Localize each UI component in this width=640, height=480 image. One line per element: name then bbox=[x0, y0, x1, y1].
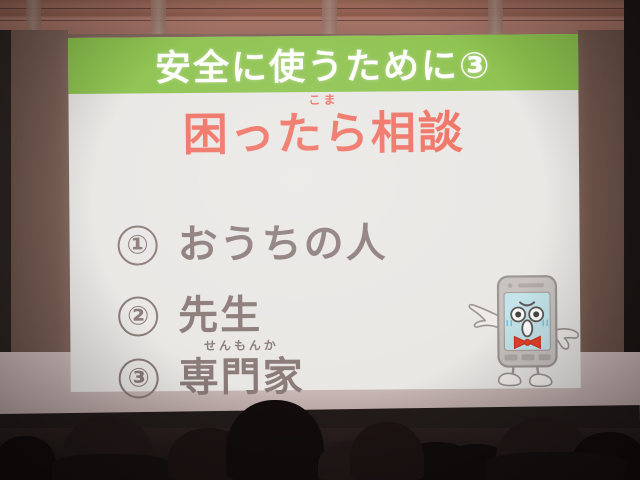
list-item-ruby: せんもんか bbox=[178, 339, 304, 352]
list-item: ① おうちの人 bbox=[117, 207, 387, 265]
slide-title-banner: 安全に使うために③ bbox=[68, 34, 578, 94]
audience-head bbox=[226, 400, 324, 480]
list-item-ruby bbox=[178, 277, 262, 278]
audience-foreground bbox=[0, 398, 640, 480]
slide-title-text: 安全に使うために③ bbox=[68, 34, 578, 94]
list-item-label-wrap: せんもんか 専門家 bbox=[178, 341, 304, 398]
list-item-number: ③ bbox=[119, 358, 159, 398]
list-item-label: 専門家 bbox=[178, 354, 304, 401]
slide-heading: こま 困ったら相談 bbox=[68, 94, 578, 159]
list-item-label-wrap: おうちの人 bbox=[177, 207, 387, 265]
list-item-ruby bbox=[177, 205, 387, 207]
list-item-number: ② bbox=[118, 296, 158, 336]
list-item-number: ① bbox=[117, 225, 157, 265]
smartphone-mascot-icon bbox=[468, 262, 587, 391]
photo-scene: 安全に使うために③ こま 困ったら相談 ① おうちの人 ② 先生 ③ bbox=[0, 0, 640, 480]
ceiling-valance bbox=[0, 0, 640, 34]
list-item: ② 先生 bbox=[118, 279, 262, 336]
list-item-label: 先生 bbox=[178, 292, 262, 339]
list-item-label: おうちの人 bbox=[177, 220, 387, 268]
audience-shoulder bbox=[52, 454, 172, 480]
slide-heading-text: こま 困ったら相談 bbox=[182, 95, 464, 158]
projected-slide: 安全に使うために③ こま 困ったら相談 ① おうちの人 ② 先生 ③ bbox=[68, 34, 581, 392]
audience-shoulder bbox=[486, 452, 626, 480]
slide-heading-main: 困ったら相談 bbox=[183, 106, 465, 161]
slide-heading-ruby: こま bbox=[68, 92, 578, 109]
list-item: ③ せんもんか 専門家 bbox=[118, 341, 304, 398]
list-item-label-wrap: 先生 bbox=[178, 279, 262, 336]
